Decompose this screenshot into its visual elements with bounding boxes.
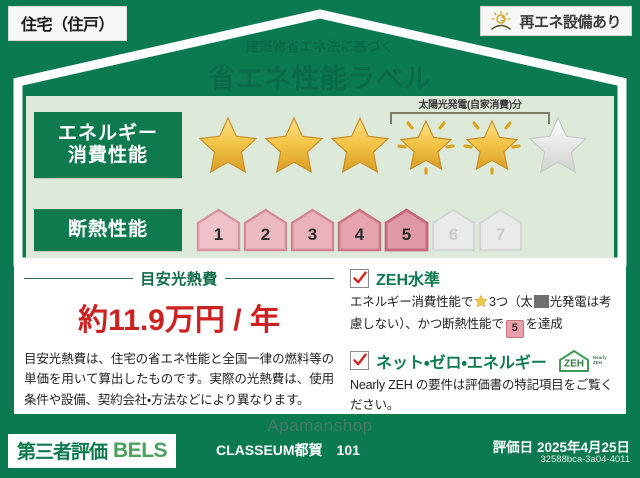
zeh-standard-checkbox[interactable] <box>350 269 369 288</box>
star-3 <box>328 113 392 177</box>
redacted-character <box>534 295 549 308</box>
footer-bar: 第三者評価 BELS CLASSEUM都賀 101 評価日 2025年4月25日… <box>0 428 640 478</box>
insulation-step-1: 1 <box>196 208 241 252</box>
cost-heading: 目安光熱費 <box>140 268 218 289</box>
insulation-step-3: 3 <box>290 208 335 252</box>
insulation-performance-row: 断熱性能 1 2 3 4 5 <box>34 208 523 252</box>
insulation-step-4-label: 4 <box>337 225 382 245</box>
cost-description: 目安光熱費は、住宅の省エネ性能と全国一律の燃料等の単価を用いて算出したものです。… <box>24 349 334 410</box>
cost-value: 約11.9万円 / 年 <box>24 295 334 339</box>
cost-rule-left <box>24 278 133 279</box>
net-zero-body: Nearly ZEH の要件は評価書の特記項目をご覧ください。 <box>350 376 616 416</box>
star-2 <box>262 113 326 177</box>
check-icon <box>352 270 368 286</box>
insulation-step-1-label: 1 <box>196 225 241 245</box>
energy-label-line1: エネルギー <box>58 123 158 145</box>
zeh-logo-sub-line2: ZEH <box>593 361 607 366</box>
sun-icon <box>489 10 513 32</box>
cost-column: 目安光熱費 約11.9万円 / 年 目安光熱費は、住宅の省エネ性能と全国一律の燃… <box>14 258 344 414</box>
insulation-step-2-label: 2 <box>243 225 288 245</box>
net-zero-block: ネット・ゼロ・エネルギー ZEH Nearly ZEH Nearly ZEH の… <box>350 349 616 416</box>
cost-heading-row: 目安光熱費 <box>24 268 334 289</box>
zeh-standard-body: エネルギー消費性能で 3つ（太光発電は考慮しない）、かつ断熱性能で5を達成 <box>350 293 616 338</box>
insulation-step-5: 5 <box>384 208 429 252</box>
bels-logo: 第三者評価 BELS <box>8 434 176 468</box>
insulation-level-badge: 5 <box>506 320 524 338</box>
insulation-step-6-label: 6 <box>431 225 476 245</box>
evaluation-date: 評価日 2025年4月25日 <box>493 436 630 456</box>
insulation-step-6: 6 <box>431 208 476 252</box>
svg-text:ZEH: ZEH <box>564 358 584 369</box>
bels-logo-en: BELS <box>113 439 167 463</box>
energy-performance-label-box: エネルギー 消費性能 <box>34 112 182 178</box>
inline-star-icon <box>474 294 488 315</box>
solar-annotation-label: 太陽光発電(自家消費)分 <box>390 96 550 111</box>
zeh-body-part1: エネルギー消費性能で <box>350 295 473 309</box>
check-icon <box>352 352 368 368</box>
zeh-standard-title: ZEH水準 <box>376 266 440 290</box>
details-panel: 目安光熱費 約11.9万円 / 年 目安光熱費は、住宅の省エネ性能と全国一律の燃… <box>14 258 626 414</box>
insulation-scale: 1 2 3 4 5 6 7 <box>196 208 523 252</box>
insulation-step-2: 2 <box>243 208 288 252</box>
zeh-logo-subtext: Nearly ZEH <box>593 356 607 365</box>
cost-rule-right <box>225 278 334 279</box>
zeh-house-logo: ZEH Nearly ZEH <box>557 349 607 373</box>
net-zero-title: ネット・ゼロ・エネルギー <box>376 349 547 373</box>
renewable-badge-label: 再エネ設備あり <box>519 11 621 32</box>
insulation-step-7: 7 <box>478 208 523 252</box>
zeh-column: ZEH水準 エネルギー消費性能で 3つ（太光発電は考慮しない）、かつ断熱性能で5… <box>344 258 626 414</box>
solar-annotation: 太陽光発電(自家消費)分 <box>390 96 550 124</box>
category-tag: 住宅（住戸） <box>8 6 127 41</box>
zeh-body-part2: 3つ（太 <box>489 295 533 309</box>
zeh-house-icon: ZEH <box>557 349 591 373</box>
solar-bracket <box>390 112 550 124</box>
star-1 <box>196 113 260 177</box>
zeh-standard-header: ZEH水準 <box>350 266 616 290</box>
zeh-body-part4: を達成 <box>526 317 563 331</box>
insulation-step-3-label: 3 <box>290 225 335 245</box>
insulation-step-4: 4 <box>337 208 382 252</box>
energy-performance-label: 住宅（住戸） 再エネ設備あり 建築物省エネ法に基づく 省エネ性能ラベル 太陽光発… <box>0 0 640 478</box>
insulation-label: 断熱性能 <box>68 219 148 241</box>
insulation-step-5-label: 5 <box>384 225 429 245</box>
net-zero-checkbox[interactable] <box>350 351 369 370</box>
net-zero-header: ネット・ゼロ・エネルギー ZEH Nearly ZEH <box>350 349 616 373</box>
renewable-energy-badge: 再エネ設備あり <box>480 6 632 36</box>
evaluation-id: 32588bca-3a04-4011 <box>540 454 630 465</box>
bels-logo-jp: 第三者評価 <box>17 437 107 464</box>
energy-label-line2: 消費性能 <box>68 145 148 167</box>
building-name: CLASSEUM都賀 101 <box>216 440 360 460</box>
insulation-label-box: 断熱性能 <box>34 209 182 251</box>
insulation-step-7-label: 7 <box>478 225 523 245</box>
